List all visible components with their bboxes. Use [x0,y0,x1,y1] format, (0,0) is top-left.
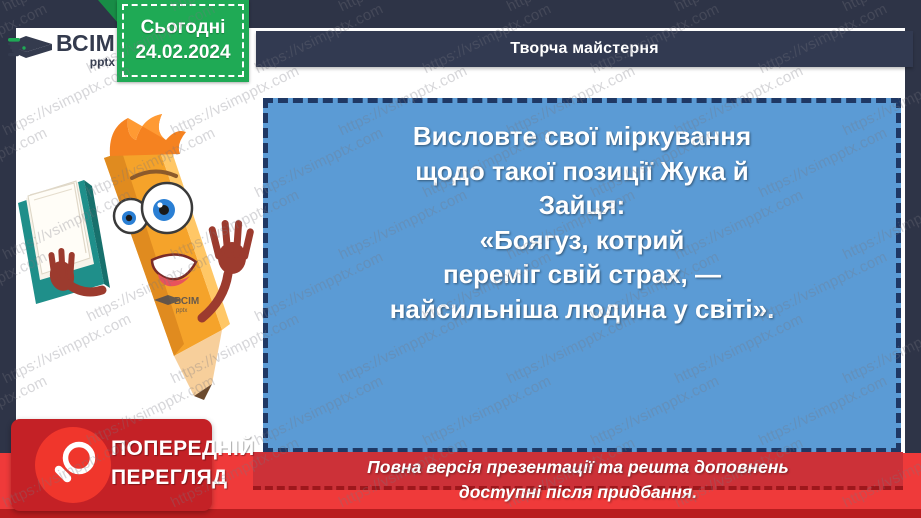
watermark-text: https://vsimpptx.com [672,0,806,15]
banner-line-2: доступні після придбання. [253,480,903,505]
watermark-text: https://vsimpptx.com [336,0,470,15]
content-line-2: щодо такої позиції Жука й [268,154,896,189]
svg-text:pptx: pptx [176,308,187,314]
content-line-4: «Боягуз, котрий [268,223,896,258]
today-label: Сьогодні [141,16,226,41]
logo-main-text: ВСІМ [56,32,115,55]
logo-sub-text: pptx [56,56,115,68]
today-date-badge: Сьогодні 24.02.2024 [117,0,249,82]
banner-text: Повна версія презентації та решта доповн… [253,455,903,505]
slide-canvas: ВСІМ pptx [0,0,921,518]
watermark-text: https://vsimpptx.com [840,0,921,15]
content-line-1: Висловте свої міркування [268,119,896,154]
svg-text:ВСІМ: ВСІМ [174,296,199,307]
preview-line-2: ПЕРЕГЛЯД [111,464,207,493]
preview-line-1: ПОПЕРЕДНІЙ [111,435,207,464]
hair-icon [110,114,186,156]
preview-badge[interactable]: ПОПЕРЕДНІЙ ПЕРЕГЛЯД [11,419,212,511]
today-date: 24.02.2024 [135,41,230,66]
banner-line-1: Повна версія презентації та решта доповн… [253,455,903,480]
magnifier-icon [47,439,101,493]
mascot-pencil-character: ВСІМ pptx [6,108,258,408]
content-panel: Висловте свої міркування щодо такої пози… [263,98,901,453]
slide-header-bar: Творча майстерня [256,31,913,67]
graduation-cap-icon [8,32,54,68]
pencil-character-icon: ВСІМ pptx [6,108,258,408]
page-title: Творча майстерня [510,40,659,58]
preview-badge-text: ПОПЕРЕДНІЙ ПЕРЕГЛЯД [111,435,207,493]
watermark-text: https://vsimpptx.com [504,0,638,15]
content-line-3: Зайця: [268,188,896,223]
content-line-6: найсильніша людина у світі». [268,292,896,327]
content-line-5: переміг свій страх, — [268,257,896,292]
right-hand-waving [208,220,255,274]
brand-logo: ВСІМ pptx [8,26,124,74]
